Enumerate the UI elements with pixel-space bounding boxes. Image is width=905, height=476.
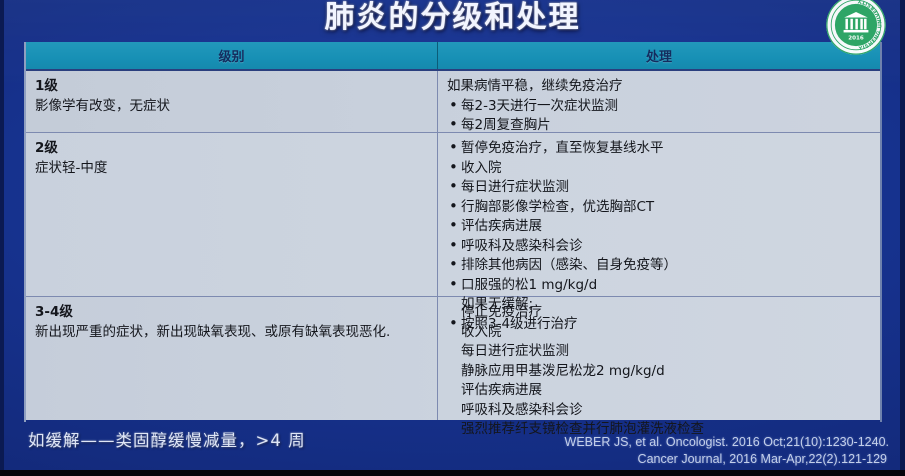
list-item: 行胸部影像学检查，优选胸部CT xyxy=(447,198,871,218)
grade-description: 影像学有改变，无症状 xyxy=(35,97,428,117)
list-item: 收入院 xyxy=(447,323,871,343)
slide-title: 肺炎的分级和处理 xyxy=(0,0,905,38)
list-item: 停止免疫治疗 xyxy=(447,303,871,323)
management-cell: 暂停免疫治疗，直至恢复基线水平 收入院 每日进行症状监测 行胸部影像学检查，优选… xyxy=(438,133,880,296)
table-row: 1级 影像学有改变，无症状 如果病情平稳，继续免疫治疗 每2-3天进行一次症状监… xyxy=(26,69,880,132)
grade-description: 症状轻-中度 xyxy=(35,159,428,179)
grading-management-table: 级别 处理 1级 影像学有改变，无症状 如果病情平稳，继续免疫治疗 每2-3天进… xyxy=(24,42,882,422)
table-body: 1级 影像学有改变，无症状 如果病情平稳，继续免疫治疗 每2-3天进行一次症状监… xyxy=(26,69,880,420)
video-letterbox-left xyxy=(0,0,4,476)
table-row: 3-4级 新出现严重的症状，新出现缺氧表现、或原有缺氧表现恶化. 停止免疫治疗 … xyxy=(26,296,880,420)
citation-line-2: Cancer Journal, 2016 Mar-Apr,22(2).121-1… xyxy=(565,451,889,468)
column-header-grade: 级别 xyxy=(26,42,438,69)
list-item: 每2-3天进行一次症状监测 xyxy=(447,97,871,117)
list-item: 呼吸科及感染科会诊 xyxy=(447,237,871,257)
table-row: 2级 症状轻-中度 暂停免疫治疗，直至恢复基线水平 收入院 每日进行症状监测 行… xyxy=(26,132,880,296)
footer-note: 如缓解——类固醇缓慢减量，>4 周 xyxy=(28,427,306,451)
slide-canvas: 肺炎的分级和处理 2016 YISHENG UNIVERSITY 级别 xyxy=(0,0,905,476)
grade-description: 新出现严重的症状，新出现缺氧表现、或原有缺氧表现恶化. xyxy=(35,323,428,343)
management-bullet-list: 每2-3天进行一次症状监测 每2周复查胸片 xyxy=(447,97,871,136)
university-logo-icon: 2016 YISHENG UNIVERSITY xyxy=(825,0,887,56)
citation: WEBER JS, et al. Oncologist. 2016 Oct;21… xyxy=(565,434,889,468)
list-item: 暂停免疫治疗，直至恢复基线水平 xyxy=(447,139,871,159)
logo-year: 2016 xyxy=(848,35,864,41)
grade-cell: 1级 影像学有改变，无症状 xyxy=(26,71,438,132)
video-letterbox-bottom xyxy=(0,470,905,476)
management-cell: 如果病情平稳，继续免疫治疗 每2-3天进行一次症状监测 每2周复查胸片 xyxy=(438,71,880,132)
list-item: 评估疾病进展 xyxy=(447,381,871,401)
grade-cell: 2级 症状轻-中度 xyxy=(26,133,438,296)
list-item: 评估疾病进展 xyxy=(447,217,871,237)
management-bullet-list: 停止免疫治疗 收入院 每日进行症状监测 静脉应用甲基泼尼松龙2 mg/kg/d … xyxy=(447,303,871,440)
list-item: 呼吸科及感染科会诊 xyxy=(447,401,871,421)
list-item: 每日进行症状监测 xyxy=(447,178,871,198)
video-letterbox-right xyxy=(900,0,905,476)
management-lead-text: 如果病情平稳，继续免疫治疗 xyxy=(447,77,871,97)
management-cell: 停止免疫治疗 收入院 每日进行症状监测 静脉应用甲基泼尼松龙2 mg/kg/d … xyxy=(438,297,880,420)
grade-title: 2级 xyxy=(35,139,428,159)
grade-title: 1级 xyxy=(35,77,428,97)
list-item: 静脉应用甲基泼尼松龙2 mg/kg/d xyxy=(447,362,871,382)
table-header-row: 级别 处理 xyxy=(26,42,880,69)
list-item: 每日进行症状监测 xyxy=(447,342,871,362)
list-item: 每2周复查胸片 xyxy=(447,116,871,136)
list-item: 收入院 xyxy=(447,159,871,179)
column-header-management: 处理 xyxy=(438,42,880,69)
list-item: 排除其他病因（感染、自身免疫等） xyxy=(447,256,871,276)
grade-title: 3-4级 xyxy=(35,303,428,323)
grade-cell: 3-4级 新出现严重的症状，新出现缺氧表现、或原有缺氧表现恶化. xyxy=(26,297,438,420)
list-item: 口服强的松1 mg/kg/d xyxy=(447,276,871,296)
citation-line-1: WEBER JS, et al. Oncologist. 2016 Oct;21… xyxy=(565,434,889,451)
